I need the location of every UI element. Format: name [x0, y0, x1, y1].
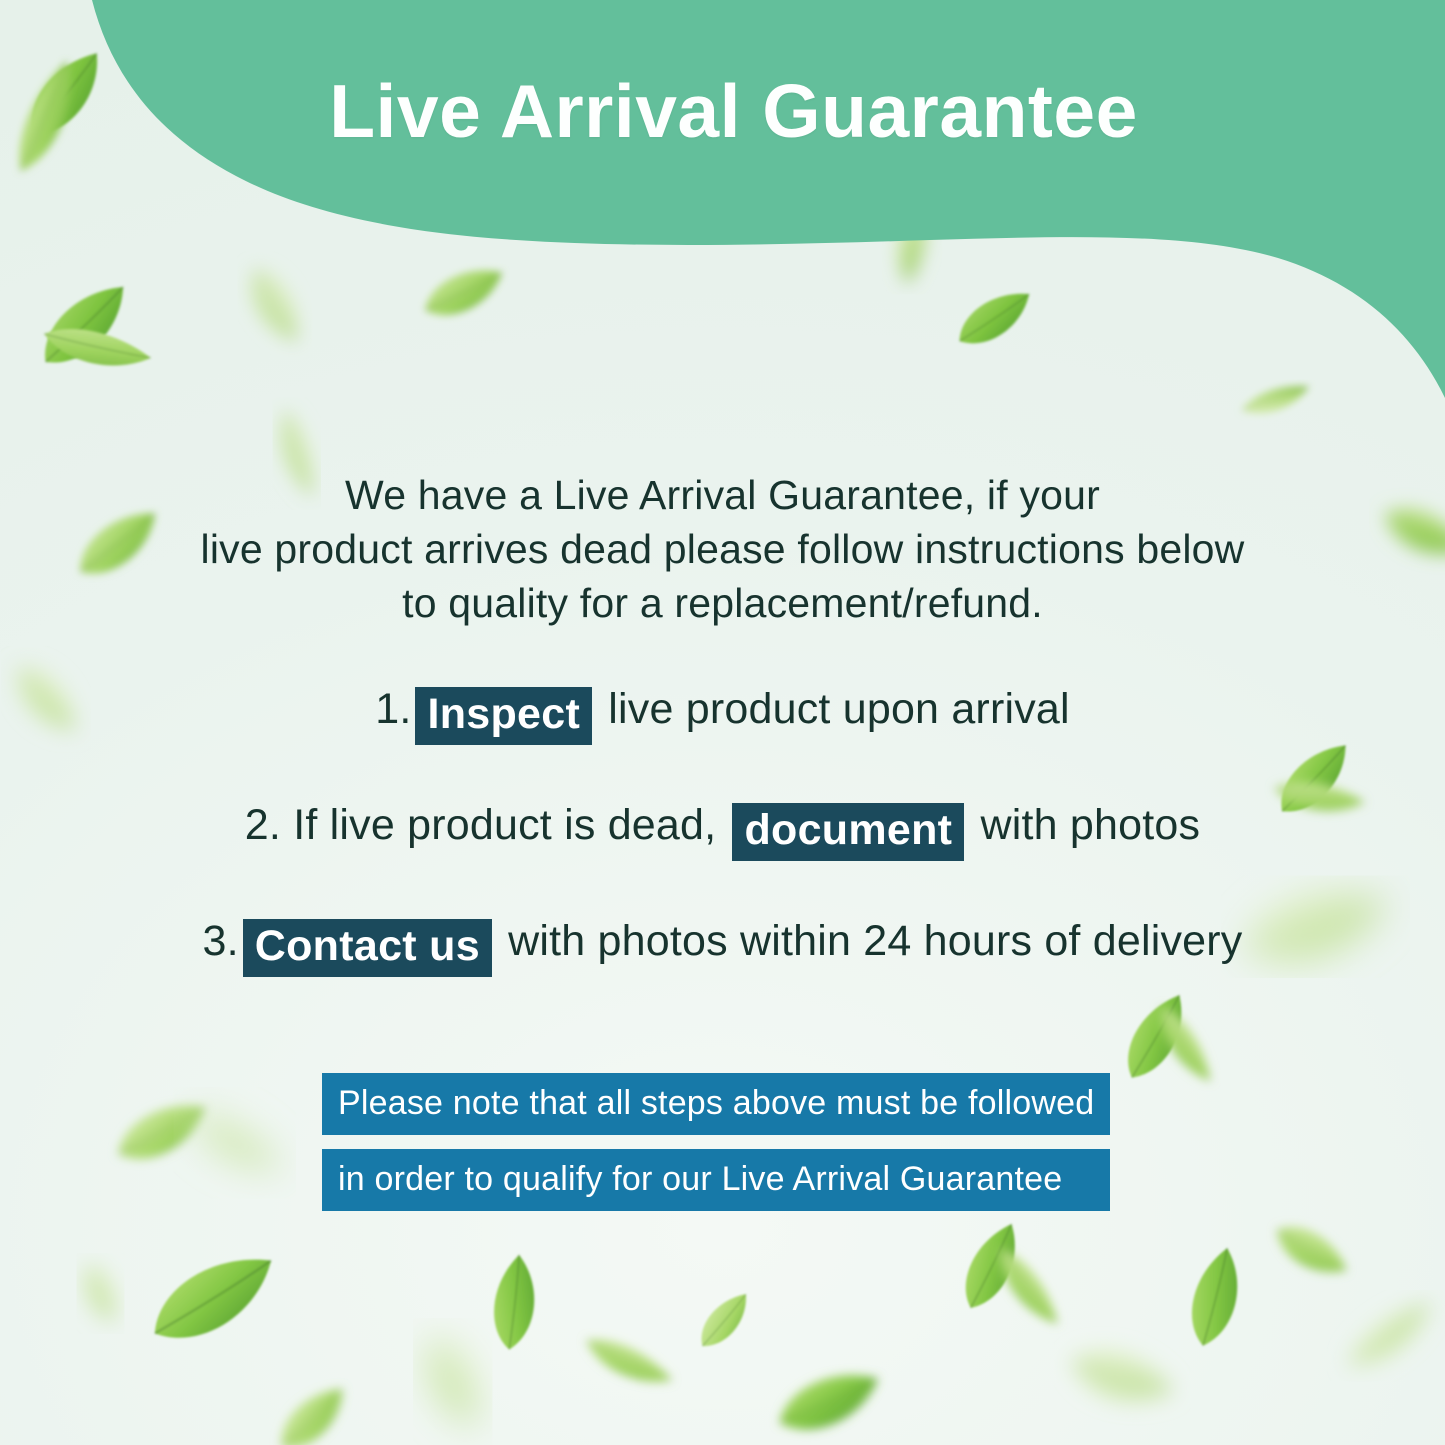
- step-item-2: 2. If live product is dead, document wit…: [0, 798, 1445, 856]
- step-after-2: with photos: [968, 801, 1200, 849]
- step-highlight-2: document: [732, 803, 964, 861]
- steps-list: 1.Inspect live product upon arrival 2. I…: [0, 682, 1445, 1030]
- footer-note: Please note that all steps above must be…: [322, 1073, 1110, 1211]
- intro-line-3: to quality for a replacement/refund.: [0, 576, 1445, 630]
- step-item-1: 1.Inspect live product upon arrival: [0, 682, 1445, 740]
- poster-canvas: Live Arrival Guarantee: [0, 0, 1445, 1445]
- step-number-2: 2.: [245, 801, 281, 849]
- step-before-2: If live product is dead,: [281, 801, 728, 849]
- step-highlight-3: Contact us: [243, 919, 492, 977]
- step-after-3: with photos within 24 hours of delivery: [496, 917, 1243, 965]
- intro-line-2: live product arrives dead please follow …: [0, 522, 1445, 576]
- step-number-1: 1.: [375, 685, 411, 733]
- intro-line-1: We have a Live Arrival Guarantee, if you…: [0, 468, 1445, 522]
- footer-note-line-1: Please note that all steps above must be…: [322, 1073, 1110, 1135]
- step-item-3: 3.Contact us with photos within 24 hours…: [0, 914, 1445, 972]
- footer-note-line-2: in order to qualify for our Live Arrival…: [322, 1149, 1110, 1211]
- step-number-3: 3.: [202, 917, 238, 965]
- step-highlight-1: Inspect: [415, 687, 592, 745]
- content-area: We have a Live Arrival Guarantee, if you…: [0, 0, 1445, 1445]
- intro-paragraph: We have a Live Arrival Guarantee, if you…: [0, 468, 1445, 630]
- step-after-1: live product upon arrival: [596, 685, 1070, 733]
